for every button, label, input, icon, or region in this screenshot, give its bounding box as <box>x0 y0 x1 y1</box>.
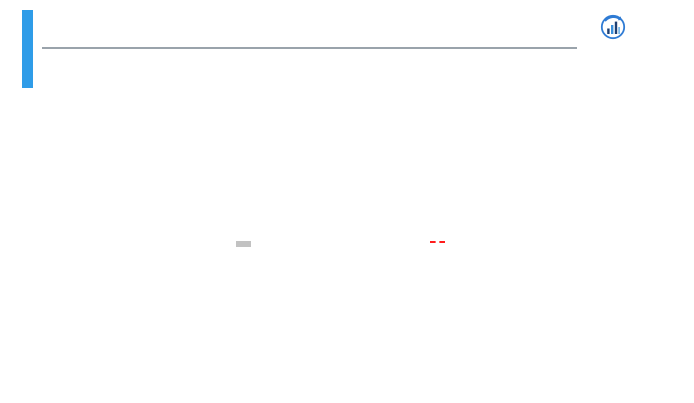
legend-line-young-icon <box>108 107 123 110</box>
y-axis-bottom <box>4 255 38 350</box>
legend-dashed-average-icon <box>430 241 445 243</box>
legend-item-all[interactable] <box>386 107 405 110</box>
lines-svg <box>40 122 622 234</box>
the-compound-logo <box>600 13 692 45</box>
plot-area-top <box>40 122 622 234</box>
spread-chart <box>0 255 694 350</box>
plot-area-bottom <box>40 255 676 350</box>
legend-item-spread[interactable] <box>236 241 255 247</box>
legend-line-all-icon <box>386 107 401 110</box>
title-divider <box>42 47 577 49</box>
legend-top-chart <box>0 107 694 121</box>
compound-bar-chart-circle-icon <box>600 14 626 40</box>
legend-item-average[interactable] <box>430 241 449 243</box>
chart-page <box>0 0 694 403</box>
unemployment-rate-chart <box>0 122 694 234</box>
accent-bar <box>22 10 33 88</box>
legend-bottom-chart <box>0 241 694 255</box>
legend-item-young[interactable] <box>108 107 127 110</box>
y-axis-top <box>4 122 38 234</box>
x-axis <box>40 350 676 386</box>
area-svg <box>40 255 676 350</box>
legend-swatch-spread-icon <box>236 241 251 247</box>
page-header <box>0 0 694 100</box>
